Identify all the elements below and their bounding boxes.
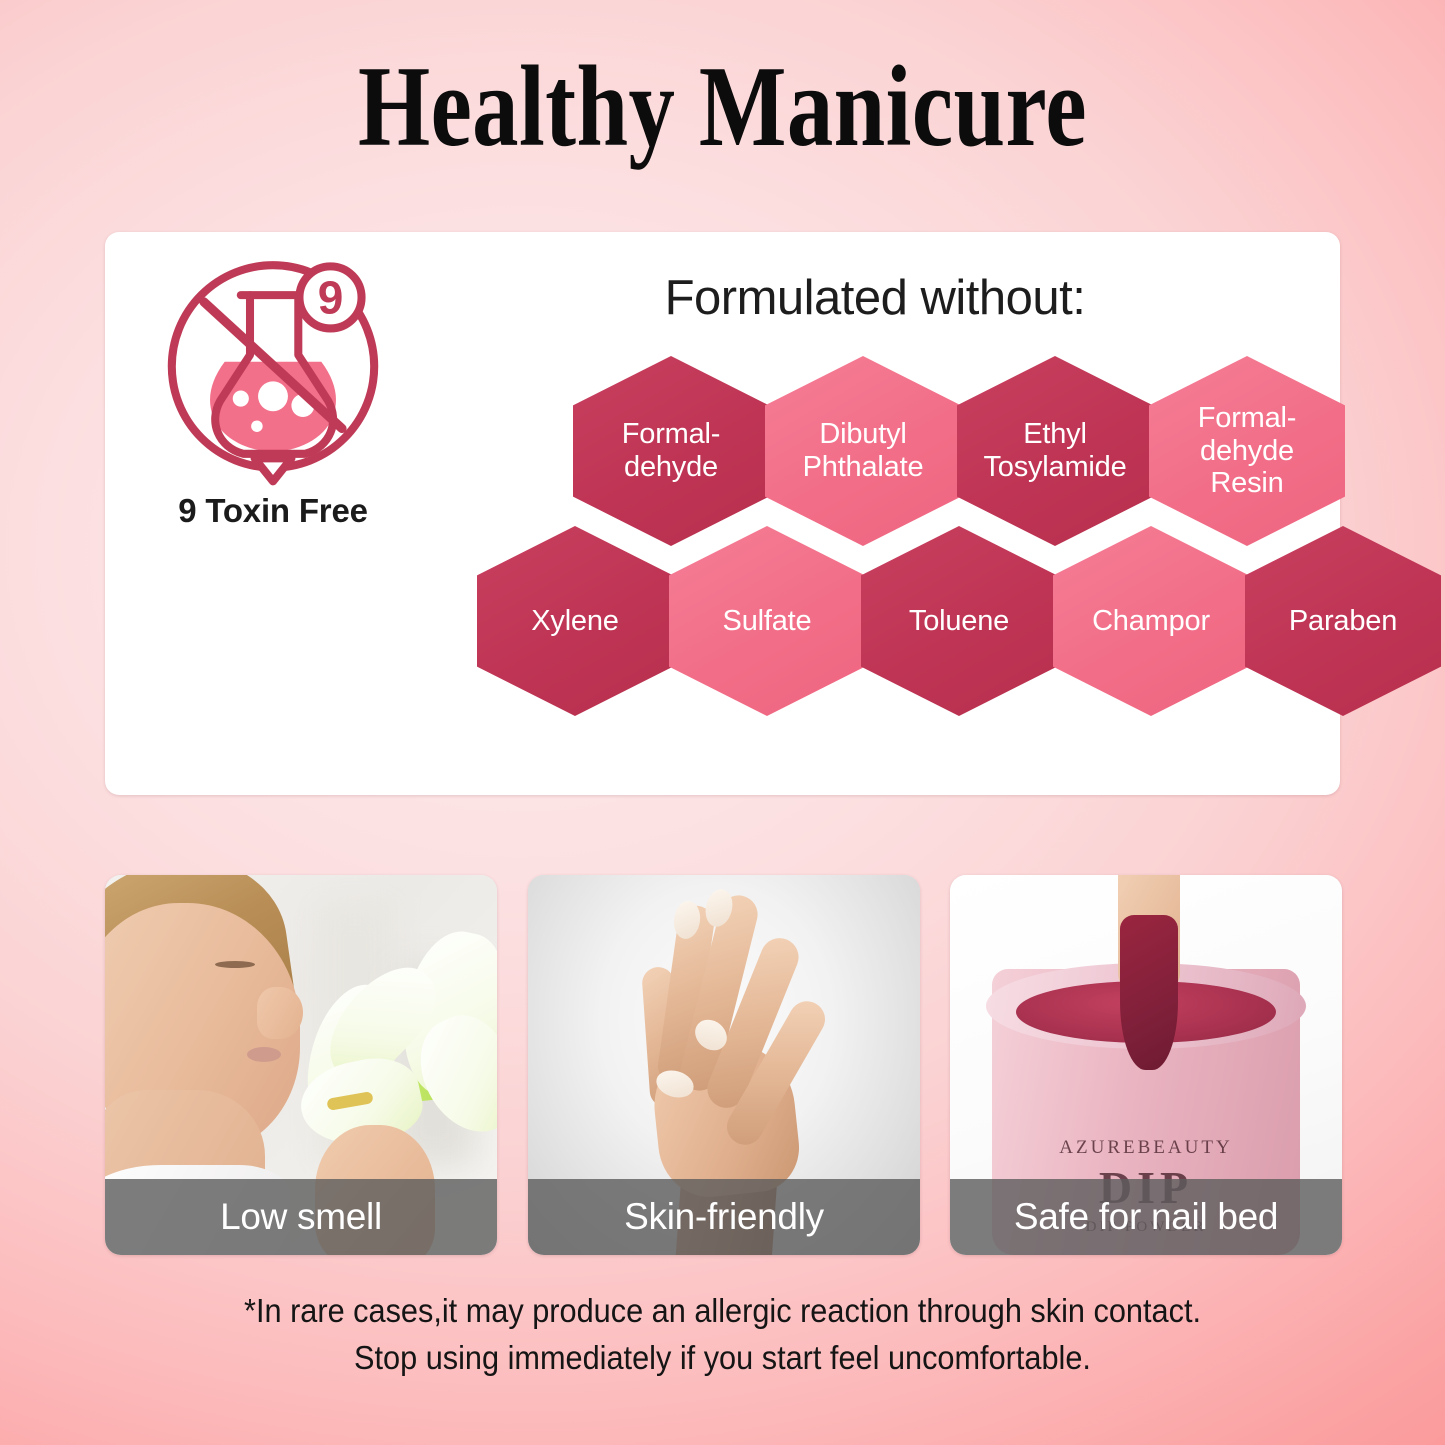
- hex-xylene[interactable]: Xylene: [477, 526, 673, 716]
- hexagon-grid: Formal-dehyde DibutylPhthalate EthylTosy…: [351, 356, 1331, 756]
- hex-label: Xylene: [531, 605, 618, 638]
- hex-formaldehyde-resin[interactable]: Formal-dehydeResin: [1149, 356, 1345, 546]
- hex-label: EthylTosylamide: [983, 418, 1126, 484]
- hex-label: Champor: [1092, 605, 1210, 638]
- hex-toluene[interactable]: Toluene: [861, 526, 1057, 716]
- benefit-caption: Safe for nail bed: [950, 1179, 1342, 1255]
- formulated-without-heading: Formulated without:: [435, 270, 1315, 326]
- benefit-caption: Low smell: [105, 1179, 497, 1255]
- hex-label: Sulfate: [723, 605, 812, 638]
- jar-brand-text: AZUREBEAUTY: [950, 1137, 1342, 1159]
- hex-label: Toluene: [909, 605, 1009, 638]
- benefit-caption: Skin-friendly: [528, 1179, 920, 1255]
- benefit-cards: Low smell Skin-friendly AZUREBEAUTY: [105, 875, 1340, 1255]
- disclaimer: *In rare cases,it may produce an allergi…: [51, 1288, 1395, 1382]
- infographic-root: Healthy Manicure 9: [0, 0, 1445, 1445]
- hex-label: Paraben: [1289, 605, 1397, 638]
- benefit-card-safe-for-nail-bed[interactable]: AZUREBEAUTY DIP DIP POWDER Safe for nail…: [950, 875, 1342, 1255]
- hex-ethyl-tosylamide[interactable]: EthylTosylamide: [957, 356, 1153, 546]
- benefit-card-low-smell[interactable]: Low smell: [105, 875, 497, 1255]
- hex-dibutyl-phthalate[interactable]: DibutylPhthalate: [765, 356, 961, 546]
- formulated-without-panel: 9 9 Toxin Free Formulated without: Forma…: [105, 232, 1340, 795]
- hex-label: Formal-dehydeResin: [1198, 402, 1297, 500]
- hex-formaldehyde[interactable]: Formal-dehyde: [573, 356, 769, 546]
- hex-paraben[interactable]: Paraben: [1245, 526, 1441, 716]
- hex-label: Formal-dehyde: [622, 418, 721, 484]
- disclaimer-line-2: Stop using immediately if you start feel…: [51, 1335, 1395, 1382]
- disclaimer-line-1: *In rare cases,it may produce an allergi…: [51, 1288, 1395, 1335]
- hex-champor[interactable]: Champor: [1053, 526, 1249, 716]
- page-title: Healthy Manicure: [145, 44, 1301, 172]
- hex-sulfate[interactable]: Sulfate: [669, 526, 865, 716]
- benefit-card-skin-friendly[interactable]: Skin-friendly: [528, 875, 920, 1255]
- svg-text:9: 9: [318, 272, 344, 324]
- hex-label: DibutylPhthalate: [803, 418, 924, 484]
